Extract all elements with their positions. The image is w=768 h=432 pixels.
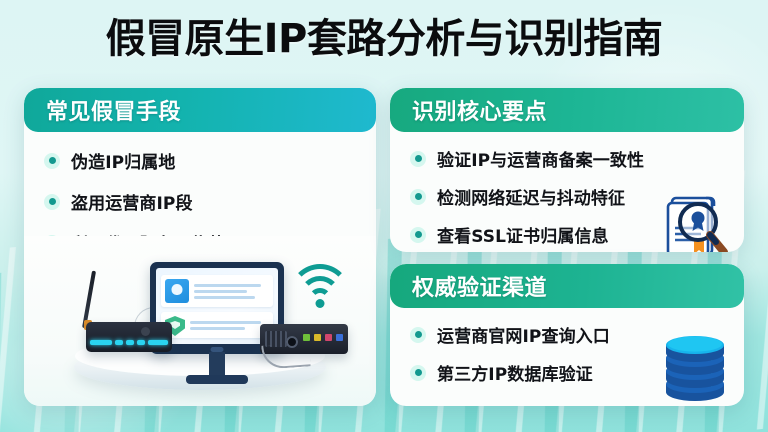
card-header-identification-key-points: 识别核心要点 — [390, 88, 744, 132]
bullet-text: 运营商官网IP查询入口 — [437, 322, 610, 347]
id-card-profile-row — [161, 275, 273, 307]
card-authoritative-verification-channels: 权威验证渠道 运营商官网IP查询入口 第三方IP数据库验证 — [390, 264, 744, 406]
bullet-text: 检测网络延迟与抖动特征 — [437, 184, 625, 209]
list-item: 伪造IP归属地 — [44, 148, 360, 173]
bullet-dot-icon — [410, 227, 426, 243]
page-title: 假冒原生IP套路分析与识别指南 — [0, 17, 768, 62]
router-led-strip — [90, 338, 168, 347]
monitor-stand-foot — [186, 375, 248, 384]
bullet-text: 查看SSL证书归属信息 — [437, 222, 609, 247]
user-avatar-icon — [165, 279, 189, 303]
set-top-box-ports — [303, 334, 343, 341]
card-title-common-spoofing-methods: 常见假冒手段 — [46, 94, 181, 126]
network-devices-illustration — [24, 236, 376, 406]
card-body-authoritative-verification-channels: 运营商官网IP查询入口 第三方IP数据库验证 — [390, 308, 744, 406]
card-title-authoritative-verification-channels: 权威验证渠道 — [412, 270, 547, 302]
certificate-magnifier-icon — [660, 194, 734, 252]
profile-text-lines — [194, 279, 269, 303]
id-card-verify-row — [161, 312, 273, 338]
card-common-spoofing-methods: 常见假冒手段 伪造IP归属地 盗用运营商IP段 利用代理服务器伪装 — [24, 88, 376, 406]
card-header-common-spoofing-methods: 常见假冒手段 — [24, 88, 376, 132]
wifi-signal-icon — [289, 264, 351, 310]
list-item: 盗用运营商IP段 — [44, 189, 360, 214]
bullet-dot-icon — [44, 153, 60, 169]
bullet-text: 验证IP与运营商备案一致性 — [437, 146, 644, 171]
wireless-router — [86, 322, 172, 352]
router-knob — [141, 327, 150, 336]
bullet-text: 伪造IP归属地 — [71, 148, 175, 173]
card-identification-key-points: 识别核心要点 验证IP与运营商备案一致性 检测网络延迟与抖动特征 查看SSL证书… — [390, 88, 744, 252]
card-body-identification-key-points: 验证IP与运营商备案一致性 检测网络延迟与抖动特征 查看SSL证书归属信息 — [390, 132, 744, 252]
poster-canvas: 假冒原生IP套路分析与识别指南 常见假冒手段 伪造IP归属地 盗用运营商IP段 … — [0, 0, 768, 432]
bullet-dot-icon — [410, 365, 426, 381]
bullet-text: 盗用运营商IP段 — [71, 189, 193, 214]
card-header-authoritative-verification-channels: 权威验证渠道 — [390, 264, 744, 308]
database-stack-icon — [660, 328, 730, 402]
bullet-dot-icon — [410, 189, 426, 205]
verify-text-lines — [190, 316, 269, 334]
bullet-dot-icon — [410, 327, 426, 343]
bullet-dot-icon — [410, 151, 426, 167]
bullet-dot-icon — [44, 194, 60, 210]
list-item: 验证IP与运营商备案一致性 — [410, 146, 728, 171]
card-title-identification-key-points: 识别核心要点 — [412, 94, 547, 126]
bullet-text: 第三方IP数据库验证 — [437, 360, 593, 385]
